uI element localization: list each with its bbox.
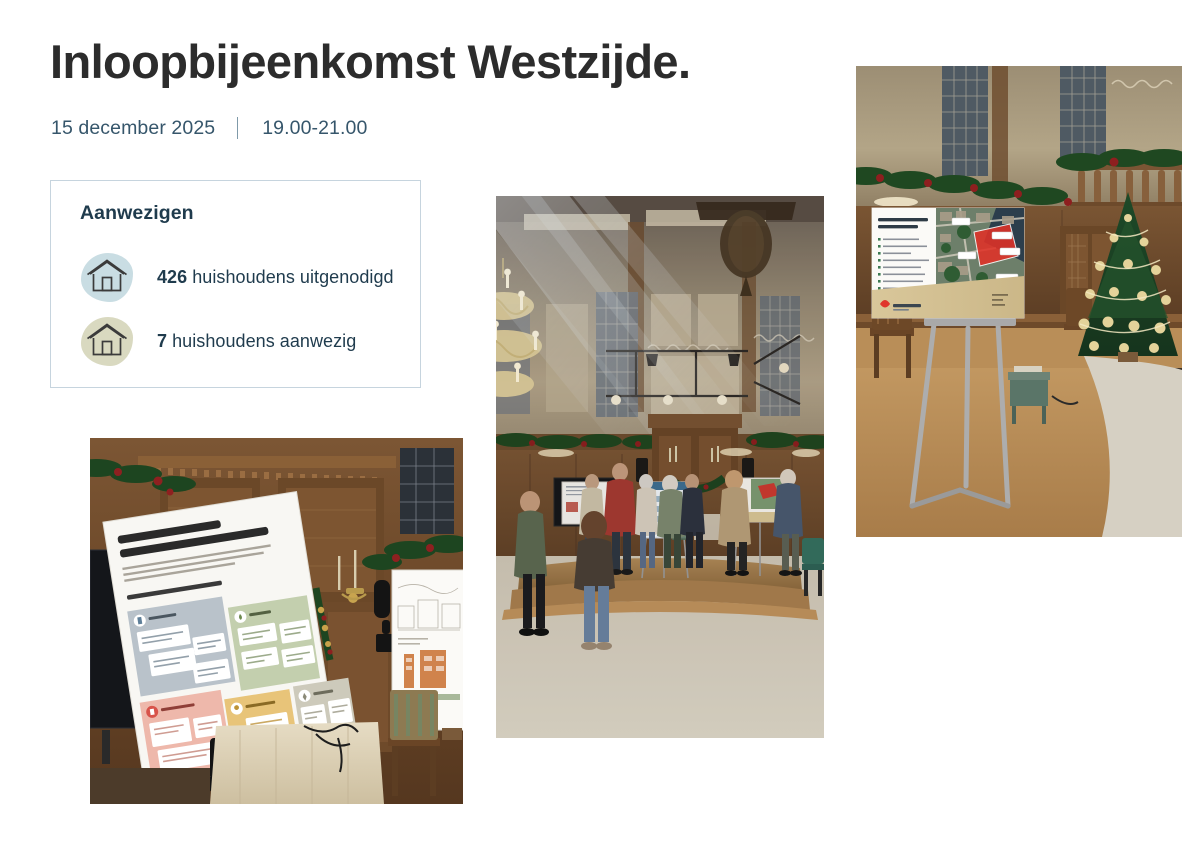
attendance-card-title: Aanwezigen <box>80 202 194 225</box>
event-time: 19.00-21.00 <box>262 117 367 140</box>
attendance-row-invited: 426 huishoudens uitgenodigd <box>79 249 394 305</box>
attendance-invited-label: 426 huishoudens uitgenodigd <box>157 267 394 288</box>
attendance-present-count: 7 <box>157 331 167 351</box>
house-icon <box>79 313 135 369</box>
attendance-present-text: huishoudens aanwezig <box>167 331 356 351</box>
photo-reactions-board <box>90 438 463 804</box>
page-title: Inloopbijeenkomst Westzijde. <box>50 36 690 89</box>
attendance-row-present: 7 huishoudens aanwezig <box>79 313 356 369</box>
meta-divider <box>237 117 238 139</box>
attendance-card: Aanwezigen 426 huishoudens uitgenodigd <box>50 180 421 388</box>
house-icon <box>79 249 135 305</box>
attendance-invited-count: 426 <box>157 267 187 287</box>
attendance-present-label: 7 huishoudens aanwezig <box>157 331 356 352</box>
photo-hall-with-visitors <box>496 196 824 738</box>
photo-easel-with-board <box>856 66 1182 537</box>
event-meta: 15 december 2025 19.00-21.00 <box>51 114 367 142</box>
attendance-invited-text: huishoudens uitgenodigd <box>187 267 393 287</box>
event-date: 15 december 2025 <box>51 117 215 140</box>
